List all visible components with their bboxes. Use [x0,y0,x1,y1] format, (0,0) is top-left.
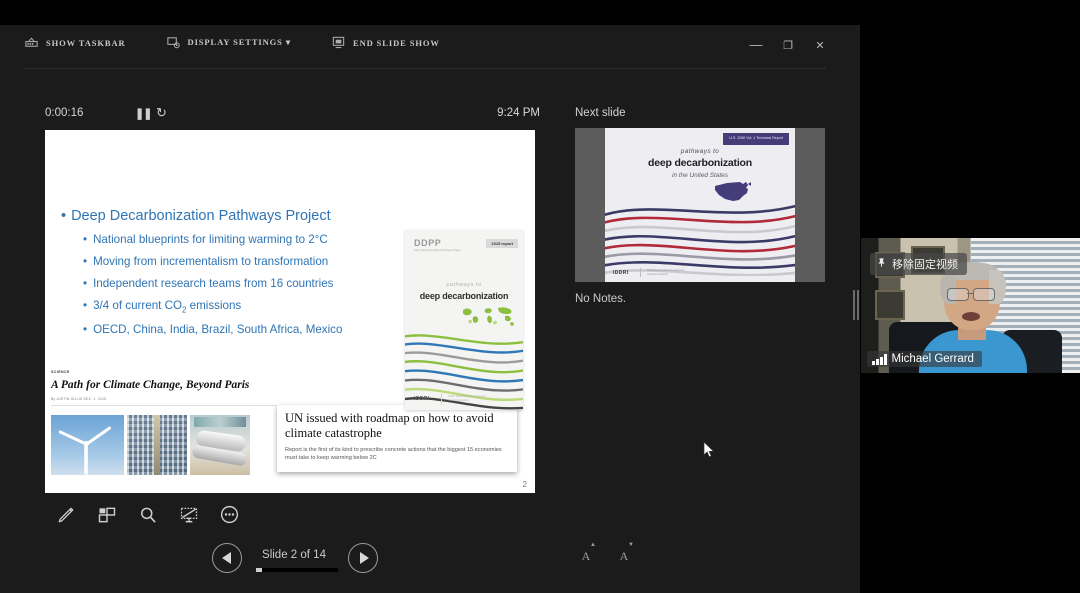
display-settings-button[interactable]: DISPLAY SETTINGS ▾ [166,35,291,50]
show-taskbar-button[interactable]: SHOW TASKBAR [24,35,126,50]
video-tile-drag-handle[interactable] [852,287,860,323]
next-slide-preview[interactable]: U.S. 2050 Vol. 1 Technical Report pathwa… [575,128,825,282]
end-slideshow-label: END SLIDE SHOW [353,38,440,48]
increase-font-size-button[interactable]: A ▲ [574,540,598,562]
close-button[interactable]: ✕ [804,33,836,57]
photo-strip [51,415,251,475]
notes-pane: Next slide U.S. 2050 Vol. 1 Technical Re… [560,85,850,590]
next-slide-title-small: pathways to [605,148,795,155]
chevron-right-icon [360,552,369,564]
slide-bullet-5-text: OECD, China, India, Brazil, South Africa… [93,323,342,336]
turbine-blade [85,426,111,445]
news-clipping-un: UN issued with roadmap on how to avoid c… [277,405,517,472]
caret-down-icon: ▼ [628,542,634,548]
ddpp-footer-logo: IDDRI [414,396,430,402]
eyeglass-bridge [967,293,974,294]
decrease-font-size-button[interactable]: A ▼ [612,540,636,562]
bullet-dot: • [61,208,66,224]
timer-row: 0:00:16 ❚❚ ↻ 9:24 PM [45,107,540,125]
participant-name: Michael Gerrard [892,353,974,365]
news-headline: A Path for Climate Change, Beyond Paris [51,379,316,391]
slide-bullet-1-text: National blueprints for limiting warming… [93,233,328,246]
participant-name-badge: Michael Gerrard [867,351,982,367]
slide-counter: Slide 2 of 14 [254,549,334,561]
elapsed-timer: 0:00:16 [45,107,83,119]
next-slide-cover-image: U.S. 2050 Vol. 1 Technical Report pathwa… [605,128,795,282]
mouse-cursor [703,441,715,459]
bullet-dot: • [83,323,87,336]
wall-picture-frame [875,290,905,320]
solar-panel-aisle [154,415,160,475]
news-clipping-science: SCIENCE A Path for Climate Change, Beyon… [51,370,316,406]
slide-bullet-3-text: Independent research teams from 16 count… [93,277,333,290]
slide-title-bullet: •Deep Decarbonization Pathways Project [61,208,401,224]
pen-icon [56,505,76,530]
ddpp-logo: DDPP [414,238,441,248]
pen-tool-button[interactable] [45,503,86,531]
restore-button[interactable]: ❐ [772,33,804,57]
slide-bullet-5: •OECD, China, India, Brazil, South Afric… [83,323,401,336]
news-byline: By JUSTIN GILLIS DEC. 1, 2015 [51,397,316,401]
bullet-dot: • [83,255,87,268]
font-larger-letter: A [582,550,591,562]
ddpp-title-large: deep decarbonization [405,291,523,301]
more-options-button[interactable] [209,503,250,531]
wind-turbine-photo [51,415,124,475]
slide-progress-fill [256,568,262,572]
slide-page-number: 2 [523,480,527,489]
unpin-video-button[interactable]: 移除固定视频 [870,253,967,275]
black-screen-button[interactable] [168,503,209,531]
notes-font-size-controls: A ▲ A ▼ [574,540,636,562]
co2-tail-text: emissions [186,299,241,312]
caret-up-icon: ▲ [590,542,596,548]
turbine-hub [84,441,89,446]
zoom-slide-button[interactable] [127,503,168,531]
display-settings-icon [166,35,181,50]
slide-bullet-4: •3/4 of current CO2 emissions [83,299,401,314]
slide-bullet-1: •National blueprints for limiting warmin… [83,233,401,246]
news-divider [51,405,306,406]
slide-bullet-list: •Deep Decarbonization Pathways Project •… [61,208,401,345]
handle-bar [857,290,859,320]
signal-bars-icon [872,354,887,365]
all-slides-icon [97,505,117,530]
show-taskbar-label: SHOW TASKBAR [46,38,126,48]
next-slide-title-large: deep decarbonization [605,157,795,169]
participant-video-tile[interactable]: 移除固定视频 Michael Gerrard [861,238,1080,373]
slide-title-text: Deep Decarbonization Pathways Project [71,208,331,224]
ddpp-footer-logo-2-text: SDSN Sustainable Development Solutions N… [448,395,488,403]
ddpp-footer-logo-2: SDSN Sustainable Development Solutions N… [441,394,488,403]
taskbar-icon [24,35,39,50]
pipeline-photo [190,415,250,475]
current-time: 9:24 PM [497,107,540,119]
all-slides-button[interactable] [86,503,127,531]
un-headline: UN issued with roadmap on how to avoid c… [285,411,509,441]
next-slide-label: Next slide [575,107,626,119]
pause-timer-button[interactable]: ❚❚ [135,107,151,120]
more-options-icon [219,504,240,530]
minimize-button[interactable]: — [740,33,772,57]
next-slide-footer-logo: IDDRI [613,270,629,276]
zoom-icon [138,505,158,530]
slide-bullet-2: •Moving from incrementalism to transform… [83,255,401,268]
bullet-dot: • [83,277,87,290]
black-screen-icon [179,505,199,530]
un-subhead: Report is the first of its kind to presc… [285,446,509,463]
next-slide-ribbon-curves [605,196,795,276]
presenter-toolbar: SHOW TASKBAR DISPLAY SETTINGS ▾ [0,25,860,67]
slide-progress-bar[interactable] [256,568,338,572]
eyeglass-lens [947,288,969,301]
speaker-notes-text[interactable]: No Notes. [575,293,835,305]
next-slide-badge: U.S. 2050 Vol. 1 Technical Report [723,133,789,145]
chevron-left-icon [222,552,231,564]
next-slide-footer-logo-2-text: SDSN Sustainable Development Solutions N… [647,269,687,277]
previous-slide-button[interactable] [212,543,242,573]
turbine-blade [58,430,86,445]
slide-bullet-4-text: 3/4 of current CO [93,299,182,312]
eyeglass-lens [973,288,995,301]
next-slide-title-sub: in the United States [605,172,795,179]
next-slide-button[interactable] [348,543,378,573]
ddpp-title-small: pathways to [405,282,523,288]
news-kicker: SCIENCE [51,370,316,374]
person-mouth [962,312,980,321]
end-slideshow-button[interactable]: END SLIDE SHOW [331,35,440,50]
turbine-blade [85,444,88,474]
current-slide[interactable]: •Deep Decarbonization Pathways Project •… [45,130,535,493]
pipeline-background [194,417,246,427]
solar-panels-photo [127,415,187,475]
slide-bullet-2-text: Moving from incrementalism to transforma… [93,255,328,268]
font-smaller-letter: A [620,550,629,562]
display-settings-label: DISPLAY SETTINGS ▾ [188,37,291,48]
bullet-dot: • [83,299,87,312]
ddpp-logo-subtitle: Deep Decarbonization Pathways Project [414,249,460,253]
presenter-view-screen: SHOW TASKBAR DISPLAY SETTINGS ▾ [0,0,1080,593]
bullet-dot: • [83,233,87,246]
next-slide-footer-logo-2: SDSN Sustainable Development Solutions N… [640,268,687,277]
end-slideshow-icon [331,35,346,50]
ddpp-report-badge: 2015 report [486,239,518,248]
slide-tools-bar [45,503,250,531]
slide-bullet-3: •Independent research teams from 16 coun… [83,277,401,290]
toolbar-divider [24,68,826,69]
pin-icon [876,257,887,271]
slide-navigation: Slide 2 of 14 [208,543,378,583]
window-controls: — ❐ ✕ [740,33,836,57]
handle-bar [853,290,855,320]
unpin-video-label: 移除固定视频 [892,256,958,272]
ddpp-report-cover-image: DDPP Deep Decarbonization Pathways Proje… [405,230,523,410]
reset-timer-button[interactable]: ↻ [156,105,167,121]
presenter-window: SHOW TASKBAR DISPLAY SETTINGS ▾ [0,25,860,593]
